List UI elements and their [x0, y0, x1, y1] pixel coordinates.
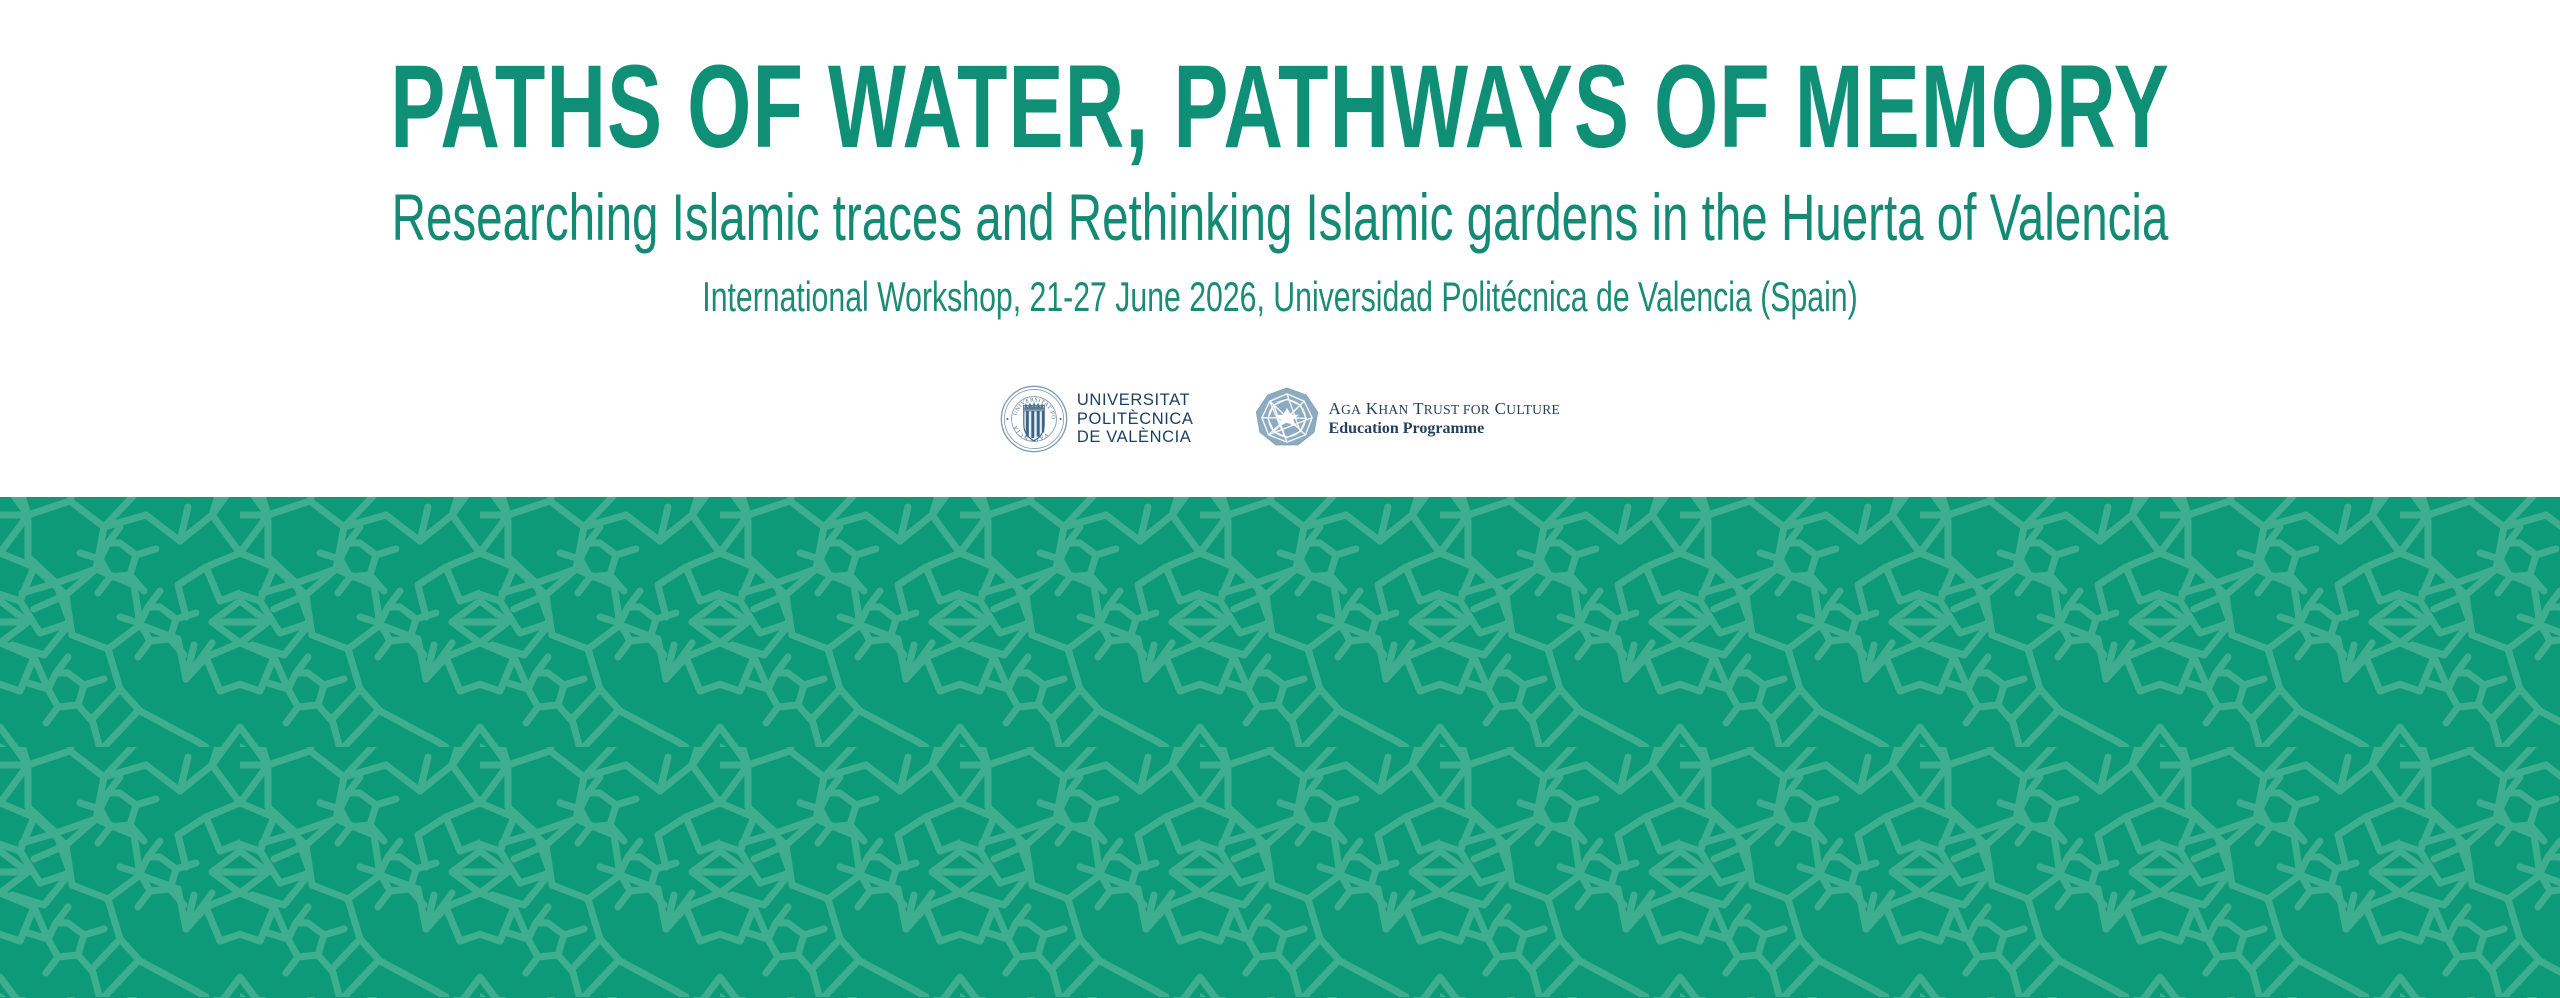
aga-khan-medallion-icon	[1254, 386, 1320, 452]
girih-pattern-svg	[0, 497, 2560, 998]
conference-banner: PATHS OF WATER, PATHWAYS OF MEMORY Resea…	[0, 0, 2560, 998]
upv-seal-icon: UNIVERSITAT POLITÈCNICA VALENCIA	[1000, 385, 1068, 453]
pattern-tiles	[0, 497, 2560, 998]
upv-logo-line-2: POLITÈCNICA	[1077, 410, 1194, 428]
logo-universitat-politecnica-de-valencia[interactable]: UNIVERSITAT POLITÈCNICA VALENCIA	[1000, 385, 1194, 453]
sponsor-logo-row: UNIVERSITAT POLITÈCNICA VALENCIA	[0, 385, 2560, 453]
aktc-logo-line-1: AGA KHAN TRUST FOR CULTURE	[1329, 399, 1561, 420]
upv-logo-line-3: DE VALÈNCIA	[1077, 428, 1194, 446]
upv-logo-line-1: UNIVERSITAT	[1077, 391, 1194, 409]
event-details: International Workshop, 21-27 June 2026,…	[358, 250, 2201, 318]
aktc-logo-line-2: Education Programme	[1329, 419, 1561, 439]
aktc-logo-text: AGA KHAN TRUST FOR CULTURE Education Pro…	[1329, 399, 1561, 440]
logo-aga-khan-trust-for-culture[interactable]: AGA KHAN TRUST FOR CULTURE Education Pro…	[1254, 386, 1561, 452]
page-subtitle: Researching Islamic traces and Rethinkin…	[358, 166, 2201, 250]
upv-logo-text: UNIVERSITAT POLITÈCNICA DE VALÈNCIA	[1077, 391, 1194, 446]
islamic-pattern-panel	[0, 497, 2560, 998]
page-title: PATHS OF WATER, PATHWAYS OF MEMORY	[384, 0, 2176, 166]
